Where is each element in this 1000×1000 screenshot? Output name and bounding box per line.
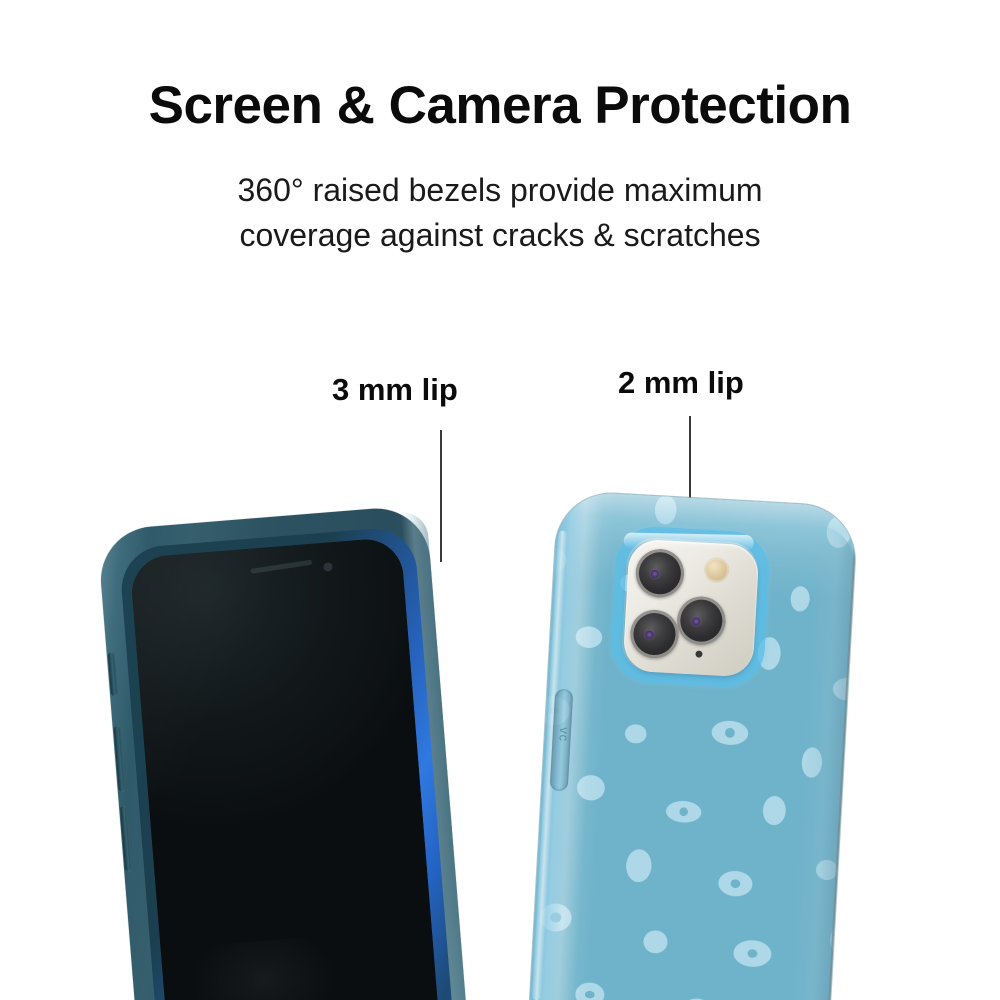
- earpiece-speaker: [250, 560, 312, 574]
- phone-front-view: [97, 504, 468, 1000]
- front-camera-icon: [323, 562, 333, 572]
- product-feature-image: Screen & Camera Protection 360° raised b…: [0, 0, 1000, 1000]
- camera-bump-plate: [622, 539, 759, 678]
- callout-label-screen-lip: 3 mm lip: [332, 372, 458, 408]
- phone-back-view: vc: [528, 490, 858, 1000]
- camera-lip-gloss: [624, 532, 754, 551]
- microphone-icon: [695, 650, 702, 657]
- subtitle-line-2: coverage against cracks & scratches: [0, 213, 1000, 258]
- camera-flash-icon: [704, 557, 730, 583]
- callout-leader-line-screen-lip: [440, 430, 442, 562]
- camera-lens-2: [676, 595, 727, 646]
- camera-lens-3: [629, 609, 680, 660]
- case-brand-emboss: vc: [556, 727, 572, 743]
- subtitle: 360° raised bezels provide maximum cover…: [0, 168, 1000, 259]
- subtitle-line-1: 360° raised bezels provide maximum: [237, 172, 762, 208]
- camera-module: [622, 539, 759, 678]
- callout-label-camera-lip: 2 mm lip: [618, 365, 744, 401]
- camera-lens-1: [635, 548, 686, 599]
- phone-screen: [129, 537, 439, 1000]
- page-title: Screen & Camera Protection: [0, 78, 1000, 134]
- case-body-right: vc: [528, 490, 858, 1000]
